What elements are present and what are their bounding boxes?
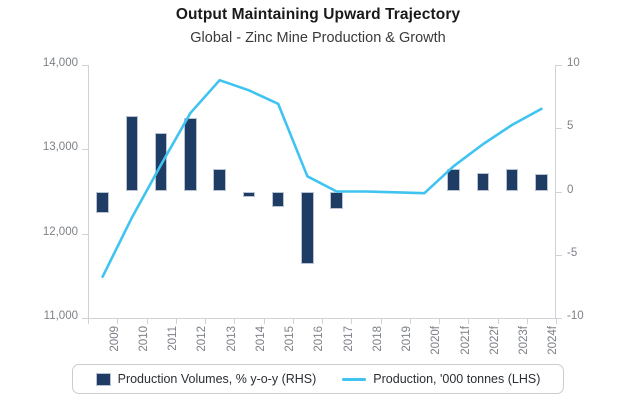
x-axis-tick [527,318,528,324]
right-axis-label: -5 [567,247,577,259]
x-axis-tick [88,318,89,324]
line-series [88,65,556,318]
legend-item-production-volumes[interactable]: Production Volumes, % y-o-y (RHS) [96,372,317,386]
x-axis-label: 2023f [518,326,530,355]
line-series-svg [88,65,556,318]
x-axis-tick [410,318,411,324]
line-swatch-icon [342,378,366,381]
right-axis-tick [556,128,562,129]
x-axis-tick [264,318,265,324]
left-axis-label: 12,000 [43,226,78,238]
x-axis-tick [322,318,323,324]
production-line [103,80,542,277]
x-axis-tick [498,318,499,324]
x-axis-label: 2020f [430,326,442,355]
square-swatch-icon [96,373,111,386]
x-axis-label: 2012 [196,326,208,352]
x-axis-tick [176,318,177,324]
legend-label-production-tonnes: Production, '000 tonnes (LHS) [373,372,540,386]
right-axis-tick [556,65,562,66]
x-axis-label: 2018 [372,326,384,352]
right-axis-label: -10 [567,310,584,322]
x-axis-label: 2011 [167,326,179,351]
x-axis-label: 2009 [109,326,121,352]
chart-container: Output Maintaining Upward Trajectory Glo… [0,0,636,410]
x-axis-label: 2016 [313,326,325,352]
right-axis-label: 10 [567,57,580,69]
x-axis-label: 2017 [343,326,355,352]
left-axis-label: 11,000 [44,310,78,322]
legend-label-production-volumes: Production Volumes, % y-o-y (RHS) [118,372,317,386]
left-axis-label: 13,000 [43,141,78,153]
chart-title: Output Maintaining Upward Trajectory [0,6,636,24]
x-axis-label: 2019 [401,326,413,352]
legend-item-production-tonnes[interactable]: Production, '000 tonnes (LHS) [342,372,540,386]
right-axis-label: 5 [567,120,573,132]
x-axis-label: 2024f [547,326,559,355]
x-axis-label: 2010 [138,326,150,352]
x-axis-label: 2022f [489,326,501,355]
x-axis-tick [205,318,206,324]
x-axis-label: 2013 [226,326,238,352]
x-axis-tick [147,318,148,324]
x-axis-tick [351,318,352,324]
x-axis-tick [468,318,469,324]
chart-legend: Production Volumes, % y-o-y (RHS) Produc… [72,364,564,394]
plot-area: 14,00013,00012,00011,000 1050-5-10 [88,65,556,318]
right-axis-tick [556,192,562,193]
x-axis-tick [234,318,235,324]
x-axis-tick [117,318,118,324]
x-axis-tick [439,318,440,324]
left-axis-label: 14,000 [43,57,78,69]
x-axis-label: 2014 [255,326,267,352]
right-axis-tick [556,255,562,256]
x-axis-tick [381,318,382,324]
chart-subtitle: Global - Zinc Mine Production & Growth [0,30,636,46]
x-axis-label: 2015 [284,326,296,352]
x-axis-tick [293,318,294,324]
right-axis-label: 0 [567,184,573,196]
x-axis-tick [556,318,557,324]
x-axis-label: 2021f [460,326,472,355]
